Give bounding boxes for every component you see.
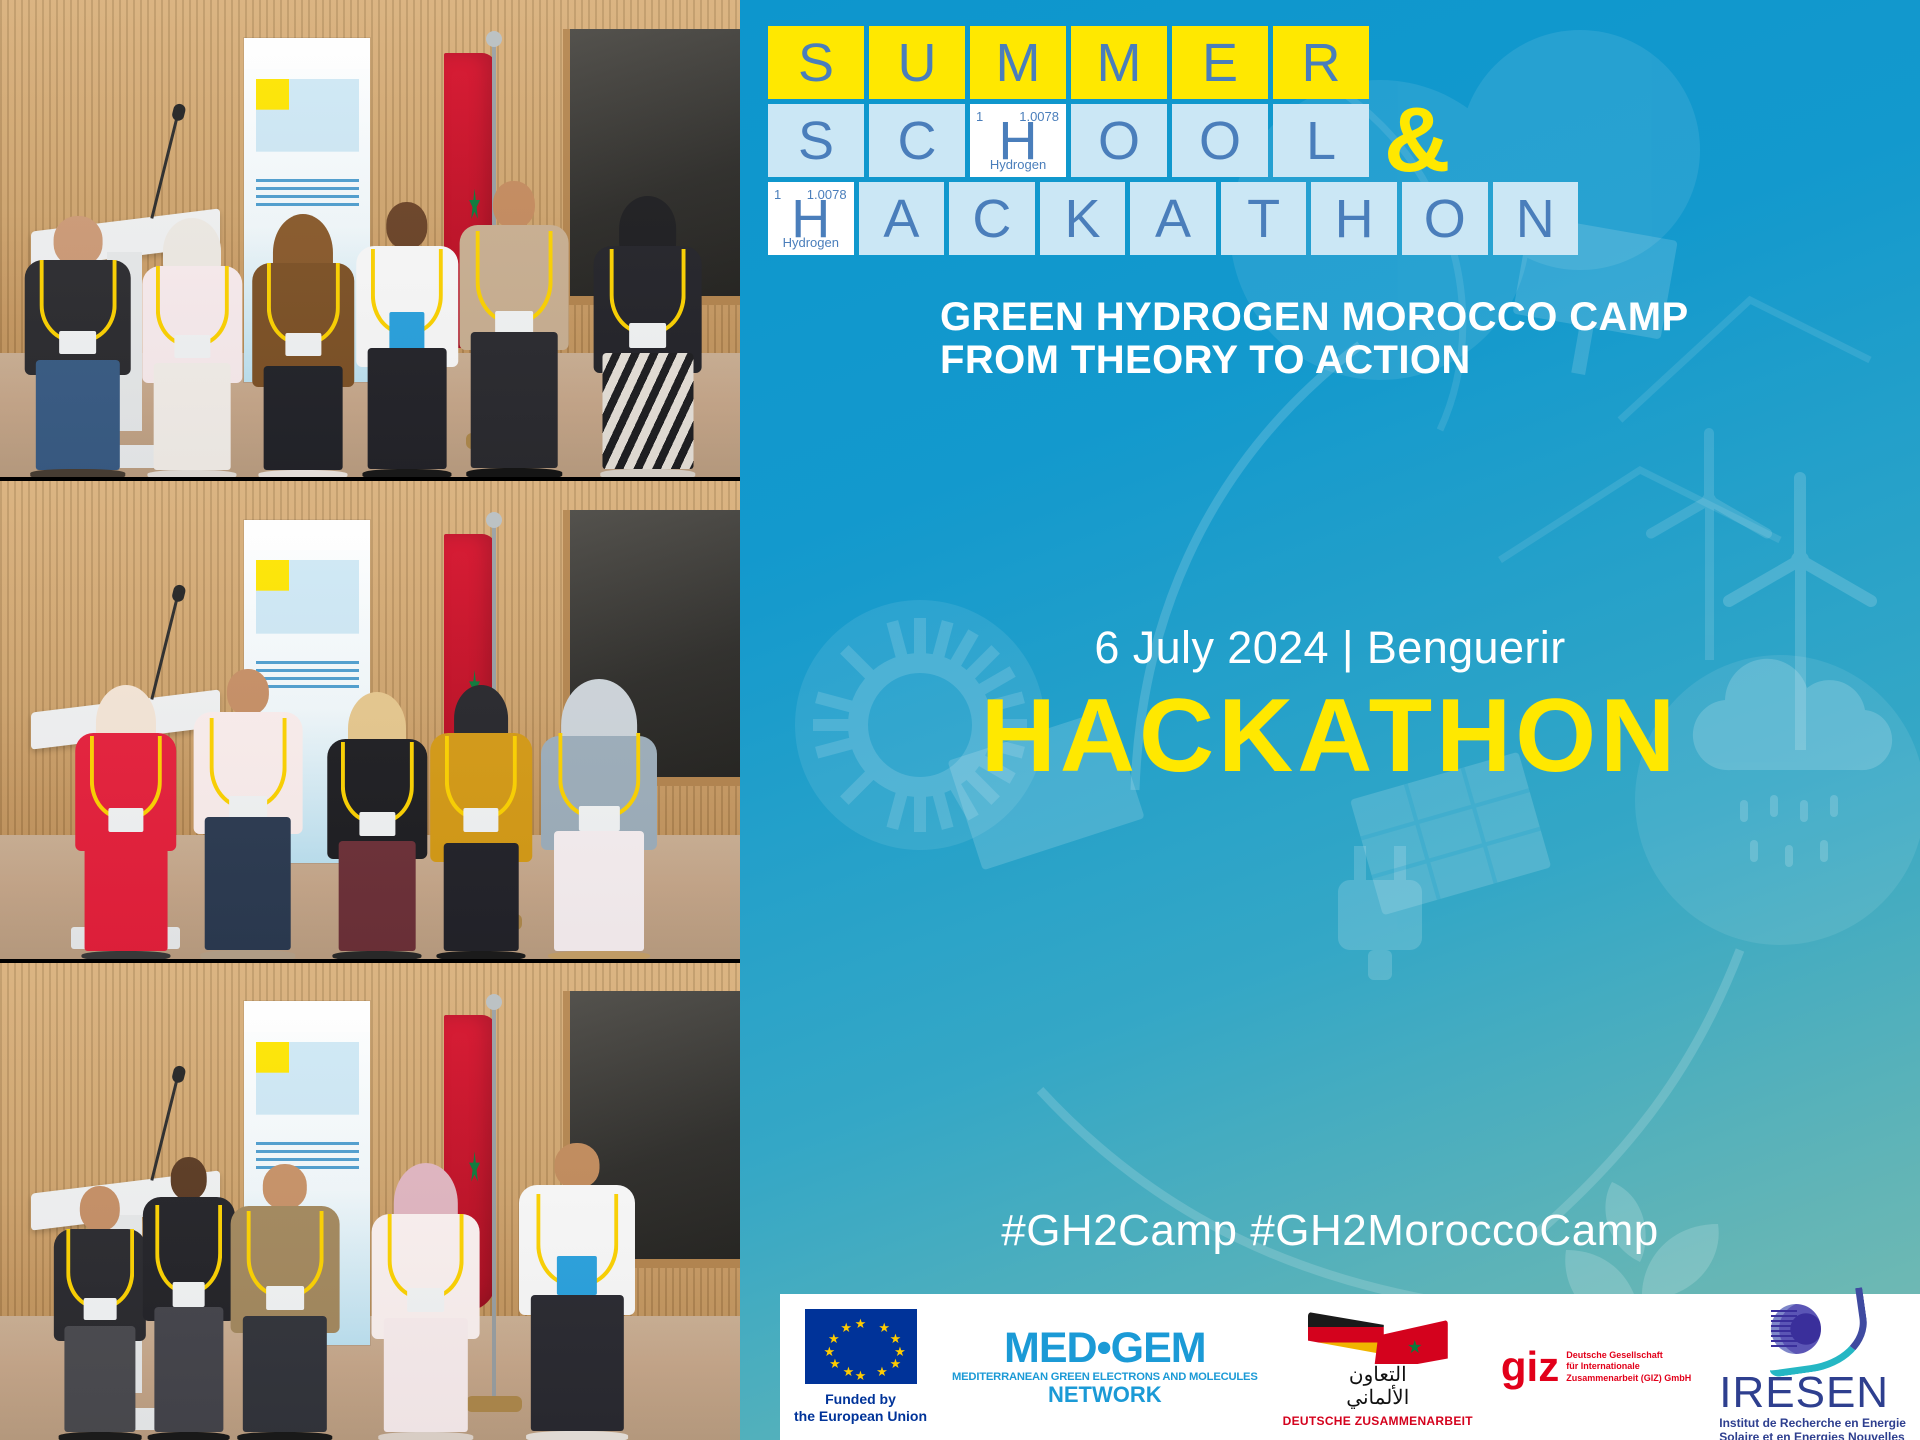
logo-tile: O	[1402, 182, 1488, 255]
giz-logo: giz Deutsche Gesellschaft für Internatio…	[1501, 1349, 1691, 1385]
poster-root: H 2 1 HYDROGEN S U M M E R	[0, 0, 1920, 1440]
atomic-mass: 1.0078	[1019, 109, 1059, 124]
people-group	[0, 605, 740, 958]
person	[74, 690, 178, 958]
iresen-tagline-line-2: Solaire et en Energies Nouvelles	[1719, 1430, 1906, 1440]
person-speaking	[518, 1143, 636, 1440]
eu-funding-text: Funded by the European Union	[794, 1391, 927, 1425]
logo-tile: C	[869, 104, 965, 177]
person	[326, 697, 430, 958]
photo-team-2	[0, 481, 740, 958]
german-morocco-flag-icon	[1308, 1306, 1448, 1364]
headline-title: HACKATHON	[740, 682, 1920, 791]
person	[592, 202, 703, 478]
logo-tile: U	[869, 26, 965, 99]
logo-tile: K	[1040, 182, 1126, 255]
people-group	[0, 1087, 740, 1440]
logo-tile: O	[1071, 104, 1167, 177]
event-logo: S U M M E R S C 1 1.0078 H Hydrogen O O …	[768, 26, 1578, 260]
connector-arc	[1040, 345, 1740, 1305]
german-cooperation-arabic-2: الألماني	[1346, 1387, 1409, 1410]
subtitle-line-1: GREEN HYDROGEN MOROCCO CAMP	[940, 296, 1890, 339]
german-cooperation-latin: DEUTSCHE ZUSAMMENARBEIT	[1283, 1414, 1473, 1428]
person-speaking	[459, 181, 570, 478]
iresen-logo: IRESEN Institut de Recherche en Energie …	[1719, 1290, 1906, 1440]
photo-column	[0, 0, 740, 1440]
logo-tile: C	[949, 182, 1035, 255]
logo-row-school: S C 1 1.0078 H Hydrogen O O L &	[768, 104, 1578, 177]
photo-team-3	[0, 963, 740, 1440]
plug-icon	[1338, 846, 1422, 980]
giz-fullname-line-1: Deutsche Gesellschaft	[1566, 1350, 1691, 1361]
german-cooperation-logo: التعاون الألماني DEUTSCHE ZUSAMMENARBEIT	[1283, 1306, 1473, 1428]
ampersand: &	[1384, 104, 1450, 177]
hashtags: #GH2Camp #GH2MoroccoCamp	[740, 1206, 1920, 1256]
people-group	[0, 124, 740, 477]
giz-fullname-line-2: für Internationale	[1566, 1361, 1691, 1372]
giz-wordmark: giz	[1501, 1349, 1559, 1385]
person	[429, 690, 533, 958]
person	[192, 669, 303, 959]
medgem-name: MED•GEM	[1004, 1327, 1206, 1370]
subtitle-line-2: FROM THEORY TO ACTION	[940, 339, 1890, 382]
person	[370, 1168, 481, 1440]
atomic-number: 1	[774, 187, 781, 202]
partner-logo-strip: ★ ★ ★ ★ ★ ★ ★ ★ ★ ★ ★ ★ Funded by the Eu…	[780, 1294, 1920, 1440]
medgem-tagline: MEDITERRANEAN GREEN ELECTRONS AND MOLECU…	[952, 1371, 1258, 1383]
logo-tile: S	[768, 26, 864, 99]
logo-tile: A	[1130, 182, 1216, 255]
element-name: Hydrogen	[768, 235, 854, 250]
iresen-name: IRESEN	[1719, 1372, 1906, 1414]
giz-fullname-line-3: Zusammenarbeit (GIZ) GmbH	[1566, 1373, 1691, 1384]
iresen-mark-icon	[1765, 1290, 1861, 1366]
person	[141, 1157, 237, 1440]
logo-tile: N	[1493, 182, 1579, 255]
medgem-logo: MED•GEM MEDITERRANEAN GREEN ELECTRONS AN…	[955, 1327, 1255, 1407]
atomic-mass: 1.0078	[807, 187, 847, 202]
person	[22, 216, 133, 477]
atomic-number: 1	[976, 109, 983, 124]
hydrogen-element-tile: 1 1.0078 H Hydrogen	[768, 182, 854, 255]
eu-funding-line-2: the European Union	[794, 1408, 927, 1425]
logo-tile: T	[1221, 182, 1307, 255]
person	[52, 1186, 148, 1440]
element-name: Hydrogen	[970, 157, 1066, 172]
logo-tile: M	[1071, 26, 1167, 99]
logo-tile: E	[1172, 26, 1268, 99]
logo-tile: O	[1172, 104, 1268, 177]
person	[252, 219, 356, 477]
logo-row-hackathon: 1 1.0078 H Hydrogen A C K A T H O N	[768, 182, 1578, 255]
logo-row-summer: S U M M E R	[768, 26, 1578, 99]
logo-tile: A	[859, 182, 945, 255]
eu-logo: ★ ★ ★ ★ ★ ★ ★ ★ ★ ★ ★ ★ Funded by the Eu…	[794, 1309, 927, 1425]
iresen-tagline: Institut de Recherche en Energie Solaire…	[1719, 1416, 1906, 1440]
hydrogen-element-tile: 1 1.0078 H Hydrogen	[970, 104, 1066, 177]
person	[141, 223, 245, 477]
photo-team-1	[0, 0, 740, 477]
german-cooperation-arabic-1: التعاون	[1349, 1364, 1407, 1387]
iresen-tagline-line-1: Institut de Recherche en Energie	[1719, 1416, 1906, 1430]
person	[355, 202, 459, 478]
person	[229, 1164, 340, 1440]
headline-when: 6 July 2024 | Benguerir	[740, 622, 1920, 674]
eu-funding-line-1: Funded by	[794, 1391, 927, 1408]
logo-tile: R	[1273, 26, 1369, 99]
headline-block: 6 July 2024 | Benguerir HACKATHON	[740, 622, 1920, 791]
person-speaking	[540, 687, 658, 959]
logo-tile: S	[768, 104, 864, 177]
brand-panel: H 2 1 HYDROGEN S U M M E R	[740, 0, 1920, 1440]
logo-tile: L	[1273, 104, 1369, 177]
logo-tile: H	[1311, 182, 1397, 255]
medgem-network: NETWORK	[1048, 1383, 1162, 1407]
event-subtitle: GREEN HYDROGEN MOROCCO CAMP FROM THEORY …	[940, 296, 1890, 382]
giz-fullname: Deutsche Gesellschaft für Internationale…	[1566, 1350, 1691, 1384]
eu-flag-icon: ★ ★ ★ ★ ★ ★ ★ ★ ★ ★ ★ ★	[805, 1309, 917, 1384]
logo-tile: M	[970, 26, 1066, 99]
